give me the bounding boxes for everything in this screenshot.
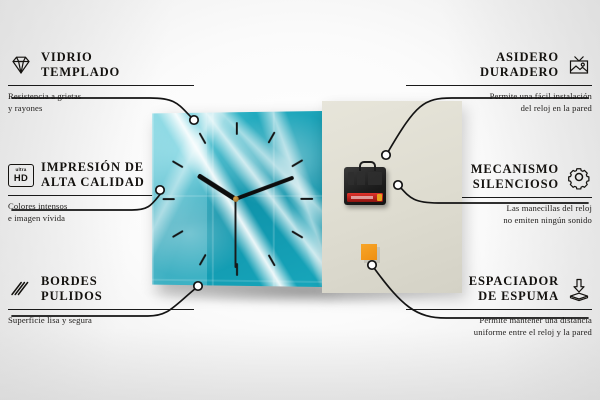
- feature-header: VIDRIO TEMPLADO: [8, 48, 194, 82]
- infographic-canvas: VIDRIO TEMPLADO Resistencia a grietas y …: [0, 0, 600, 400]
- feature-title: BORDES PULIDOS: [41, 274, 103, 305]
- ultra-hd-big-text: HD: [14, 173, 28, 182]
- product-front-clock: [152, 111, 322, 287]
- battery-label: [351, 196, 373, 199]
- feature-vidrio-templado: VIDRIO TEMPLADO Resistencia a grietas y …: [8, 48, 194, 114]
- feature-subtitle-line2: uniforme entre el reloj y la pared: [406, 326, 592, 338]
- ultra-hd-icon: ultra HD: [8, 162, 34, 188]
- foam-spacer-icon: [566, 276, 592, 302]
- feature-subtitle-line1: Permite mantener una distancia: [406, 314, 592, 326]
- feature-title: VIDRIO TEMPLADO: [41, 50, 120, 81]
- wall-hanger-hook: [359, 161, 376, 171]
- clock-center-pin: [233, 196, 239, 202]
- feature-title: MECANISMO SILENCIOSO: [471, 162, 559, 193]
- feature-subtitle-line1: Resistencia a grietas: [8, 90, 194, 102]
- clock-movement-mechanism: [344, 167, 386, 205]
- feature-subtitle-line1: Superficie lisa y segura: [8, 314, 194, 326]
- feature-divider: [8, 85, 194, 86]
- feature-header: ASIDERO DURADERO: [406, 48, 592, 82]
- product-back-panel: [322, 101, 462, 293]
- feature-divider: [8, 309, 194, 310]
- clock-second-hand: [235, 199, 237, 268]
- feature-title: IMPRESIÓN DE ALTA CALIDAD: [41, 160, 145, 191]
- battery: [347, 193, 383, 202]
- feature-divider: [406, 309, 592, 310]
- diamond-icon: [8, 52, 34, 78]
- polished-edges-icon: [8, 276, 34, 302]
- feature-divider: [406, 85, 592, 86]
- movement-housing-detail: [348, 172, 382, 185]
- wall-hanger-icon: [566, 52, 592, 78]
- foam-spacer: [361, 244, 377, 260]
- battery-terminal: [377, 194, 382, 201]
- feature-title: ESPACIADOR DE ESPUMA: [469, 274, 559, 305]
- feature-title: ASIDERO DURADERO: [480, 50, 559, 81]
- gear-icon: [566, 164, 592, 190]
